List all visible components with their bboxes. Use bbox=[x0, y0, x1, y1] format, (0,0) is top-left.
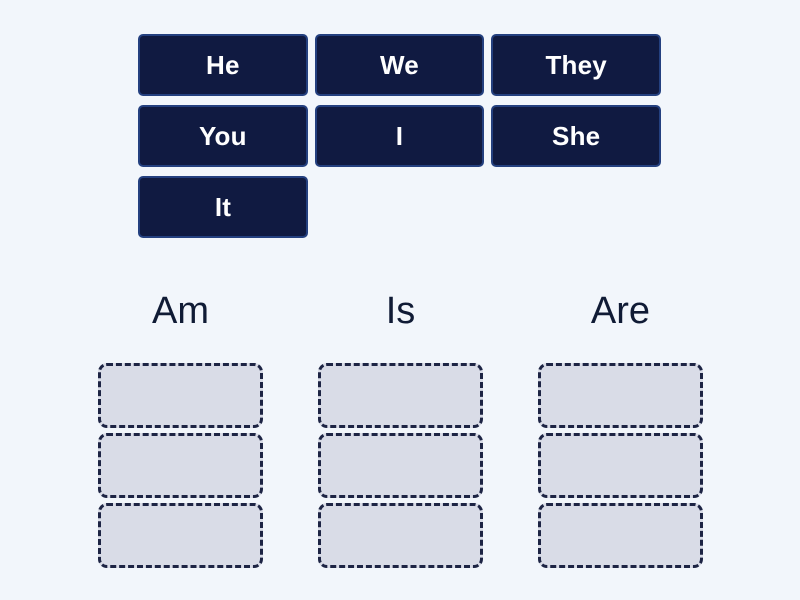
word-tile-label: He bbox=[206, 52, 240, 78]
word-tile-they[interactable]: They bbox=[491, 34, 661, 96]
dropzone-are-1[interactable] bbox=[538, 363, 703, 428]
dropzone-are-2[interactable] bbox=[538, 433, 703, 498]
dropzone-am-2[interactable] bbox=[98, 433, 263, 498]
word-bank: He We They You I She It bbox=[138, 34, 668, 247]
dropzone-am-3[interactable] bbox=[98, 503, 263, 568]
answer-column-is: Is bbox=[318, 292, 483, 568]
word-tile-label: You bbox=[199, 123, 247, 149]
word-tile-he[interactable]: He bbox=[138, 34, 308, 96]
dropzone-are-3[interactable] bbox=[538, 503, 703, 568]
answer-column-are: Are bbox=[538, 292, 703, 568]
column-heading-am: Am bbox=[98, 292, 263, 330]
activity-stage: He We They You I She It bbox=[0, 0, 800, 600]
word-tile-label: They bbox=[545, 52, 606, 78]
word-bank-row: It bbox=[138, 176, 668, 238]
word-tile-i[interactable]: I bbox=[315, 105, 485, 167]
word-bank-row: He We They bbox=[138, 34, 668, 96]
word-tile-you[interactable]: You bbox=[138, 105, 308, 167]
dropzone-am-1[interactable] bbox=[98, 363, 263, 428]
answer-column-am: Am bbox=[98, 292, 263, 568]
word-tile-label: It bbox=[215, 194, 231, 220]
word-tile-it[interactable]: It bbox=[138, 176, 308, 238]
dropzone-is-1[interactable] bbox=[318, 363, 483, 428]
word-tile-we[interactable]: We bbox=[315, 34, 485, 96]
word-tile-label: She bbox=[552, 123, 600, 149]
column-heading-are: Are bbox=[538, 292, 703, 330]
dropzone-is-3[interactable] bbox=[318, 503, 483, 568]
dropzone-is-2[interactable] bbox=[318, 433, 483, 498]
column-heading-is: Is bbox=[318, 292, 483, 330]
word-bank-row: You I She bbox=[138, 105, 668, 167]
word-tile-label: I bbox=[396, 123, 403, 149]
word-tile-label: We bbox=[380, 52, 419, 78]
answer-columns: Am Is Are bbox=[98, 292, 703, 568]
word-tile-she[interactable]: She bbox=[491, 105, 661, 167]
